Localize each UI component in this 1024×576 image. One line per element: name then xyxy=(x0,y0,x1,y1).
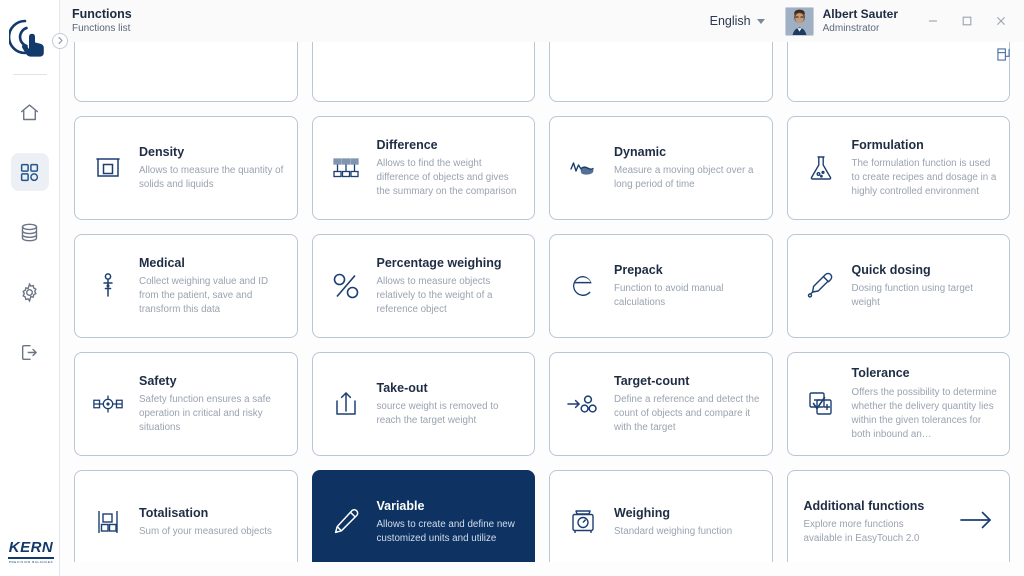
functions-content: Density Allows to measure the quantity o… xyxy=(60,42,1024,576)
card-title: Target-count xyxy=(614,373,760,389)
arrow-right-icon xyxy=(959,509,993,536)
take-out-icon xyxy=(325,389,367,419)
dynamic-icon xyxy=(562,153,604,183)
totalisation-icon xyxy=(87,507,129,537)
card-title: Safety xyxy=(139,373,285,389)
sidebar-nav xyxy=(0,93,59,371)
pencil-icon xyxy=(325,507,367,537)
difference-icon xyxy=(325,153,367,183)
function-card-variable[interactable]: Variable Allows to create and define new… xyxy=(312,470,536,574)
card-body: Dynamic Measure a moving object over a l… xyxy=(614,144,760,193)
scale-icon xyxy=(562,507,604,537)
card-body: Percentage weighing Allows to measure ob… xyxy=(377,255,523,318)
medical-icon xyxy=(87,271,129,301)
card-desc: Standard weighing function xyxy=(614,525,760,539)
kern-logo: KERN PRECISION BALANCES xyxy=(8,540,54,564)
card-desc: Allows to find the weight difference of … xyxy=(377,157,523,200)
e-mark-icon xyxy=(562,270,604,302)
card-body: Prepack Function to avoid manual calcula… xyxy=(614,262,760,311)
brand-logo xyxy=(0,0,60,74)
page-title-block: Functions Functions list xyxy=(72,7,132,36)
app-window: KERN PRECISION BALANCES Functions Functi… xyxy=(0,0,1024,576)
avatar xyxy=(785,7,814,36)
language-selector[interactable]: English xyxy=(710,14,765,28)
user-menu[interactable]: Albert Sauter Adminstrator xyxy=(785,7,898,36)
function-card-target-count[interactable]: Target-count Define a reference and dete… xyxy=(549,352,773,456)
kern-wordmark: KERN xyxy=(9,540,54,555)
minimize-button[interactable] xyxy=(916,6,950,36)
function-card-additional-functions[interactable]: Additional functions Explore more functi… xyxy=(787,470,1011,574)
expand-icon xyxy=(997,48,1010,65)
maximize-button[interactable] xyxy=(950,6,984,36)
tolerance-icon xyxy=(800,389,842,419)
maximize-icon xyxy=(961,15,973,27)
card-body: Difference Allows to find the weight dif… xyxy=(377,137,523,200)
titlebar: Functions Functions list English xyxy=(60,0,1024,42)
function-card-dynamic[interactable]: Dynamic Measure a moving object over a l… xyxy=(549,116,773,220)
sidebar-item-functions[interactable] xyxy=(11,153,49,191)
card-desc: Measure a moving object over a long peri… xyxy=(614,164,760,192)
function-card-density[interactable]: Density Allows to measure the quantity o… xyxy=(74,116,298,220)
card-title: Take-out xyxy=(377,380,523,396)
card-body: Medical Collect weighing value and ID fr… xyxy=(139,255,285,318)
card-title: Variable xyxy=(377,498,523,514)
content-bottom-spacer xyxy=(60,562,1024,576)
card-desc: Collect weighing value and ID from the p… xyxy=(139,275,285,318)
kern-tagline: PRECISION BALANCES xyxy=(9,560,53,564)
crosshair-icon xyxy=(87,389,129,419)
card-body: Variable Allows to create and define new… xyxy=(377,498,523,547)
language-label: English xyxy=(710,14,751,28)
function-card-medical[interactable]: Medical Collect weighing value and ID fr… xyxy=(74,234,298,338)
card-title: Totalisation xyxy=(139,505,285,521)
card-body: Formulation The formulation function is … xyxy=(852,137,998,200)
card-body: Totalisation Sum of your measured object… xyxy=(139,505,285,539)
gear-icon xyxy=(19,282,40,303)
sidebar-item-database[interactable] xyxy=(11,213,49,251)
expand-panel-button[interactable] xyxy=(997,48,1010,66)
card-body: Safety Safety function ensures a safe op… xyxy=(139,373,285,436)
card-title: Quick dosing xyxy=(852,262,998,278)
sidebar-item-logout[interactable] xyxy=(11,333,49,371)
card-desc: Function to avoid manual calculations xyxy=(614,282,760,310)
function-card-totalisation[interactable]: Totalisation Sum of your measured object… xyxy=(74,470,298,574)
percent-icon xyxy=(325,270,367,302)
card-title: Weighing xyxy=(614,505,760,521)
card-body: Target-count Define a reference and dete… xyxy=(614,373,760,436)
flask-icon xyxy=(800,153,842,183)
card-body: Take-out source weight is removed to rea… xyxy=(377,380,523,429)
card-desc: Sum of your measured objects xyxy=(139,525,285,539)
card-body: Density Allows to measure the quantity o… xyxy=(139,144,285,193)
grid-apps-icon xyxy=(19,162,40,183)
database-icon xyxy=(19,222,40,243)
card-title: Density xyxy=(139,144,285,160)
card-title: Medical xyxy=(139,255,285,271)
sidebar-collapse-button[interactable] xyxy=(52,33,68,49)
user-name: Albert Sauter xyxy=(823,7,898,22)
home-icon xyxy=(19,102,40,123)
kern-rule xyxy=(8,557,54,559)
card-title: Prepack xyxy=(614,262,760,278)
card-title: Additional functions xyxy=(804,498,942,514)
chevron-down-icon xyxy=(757,19,765,24)
card-title: Difference xyxy=(377,137,523,153)
card-desc: Safety function ensures a safe operation… xyxy=(139,393,285,436)
window-controls xyxy=(916,6,1018,36)
function-card-partial[interactable] xyxy=(74,42,298,102)
function-card-take-out[interactable]: Take-out source weight is removed to rea… xyxy=(312,352,536,456)
function-card-quick-dosing[interactable]: Quick dosing Dosing function using targe… xyxy=(787,234,1011,338)
sidebar-item-settings[interactable] xyxy=(11,273,49,311)
card-title: Percentage weighing xyxy=(377,255,523,271)
function-card-prepack[interactable]: Prepack Function to avoid manual calcula… xyxy=(549,234,773,338)
user-text: Albert Sauter Adminstrator xyxy=(823,7,898,35)
sidebar-divider xyxy=(13,74,47,75)
card-desc: Allows to create and define new customiz… xyxy=(377,518,523,546)
chevron-right-icon xyxy=(57,36,64,47)
target-count-icon xyxy=(562,390,604,418)
function-card-percentage-weighing[interactable]: Percentage weighing Allows to measure ob… xyxy=(312,234,536,338)
user-role: Adminstrator xyxy=(823,22,898,35)
sidebar-item-home[interactable] xyxy=(11,93,49,131)
card-body: Weighing Standard weighing function xyxy=(614,505,760,539)
card-title: Tolerance xyxy=(852,365,998,381)
pipette-icon xyxy=(800,271,842,301)
card-desc: source weight is removed to reach the ta… xyxy=(377,400,523,428)
function-card-partial[interactable] xyxy=(549,42,773,102)
card-desc: Dosing function using target weight xyxy=(852,282,998,310)
sidebar: KERN PRECISION BALANCES xyxy=(0,0,60,576)
function-card-partial[interactable] xyxy=(312,42,536,102)
function-card-difference[interactable]: Difference Allows to find the weight dif… xyxy=(312,116,536,220)
density-icon xyxy=(87,153,129,183)
logout-icon xyxy=(19,342,40,363)
card-desc: Explore more functions available in Easy… xyxy=(804,518,942,546)
function-card-tolerance[interactable]: Tolerance Offers the possibility to dete… xyxy=(787,352,1011,456)
card-title: Formulation xyxy=(852,137,998,153)
functions-grid: Density Allows to measure the quantity o… xyxy=(74,42,1010,576)
minimize-icon xyxy=(927,15,939,27)
close-icon xyxy=(995,15,1007,27)
card-desc: The formulation function is used to crea… xyxy=(852,157,998,200)
card-body: Additional functions Explore more functi… xyxy=(804,498,950,547)
main-region: Functions Functions list English xyxy=(60,0,1024,576)
function-card-formulation[interactable]: Formulation The formulation function is … xyxy=(787,116,1011,220)
function-card-safety[interactable]: Safety Safety function ensures a safe op… xyxy=(74,352,298,456)
card-desc: Allows to measure the quantity of solids… xyxy=(139,164,285,192)
card-body: Tolerance Offers the possibility to dete… xyxy=(852,365,998,442)
card-desc: Allows to measure objects relatively to … xyxy=(377,275,523,318)
function-card-weighing[interactable]: Weighing Standard weighing function xyxy=(549,470,773,574)
page-title: Functions xyxy=(72,7,132,23)
page-subtitle: Functions list xyxy=(72,22,132,35)
close-button[interactable] xyxy=(984,6,1018,36)
card-desc: Offers the possibility to determine whet… xyxy=(852,386,998,443)
card-body: Quick dosing Dosing function using targe… xyxy=(852,262,998,311)
card-desc: Define a reference and detect the count … xyxy=(614,393,760,436)
function-card-partial[interactable] xyxy=(787,42,1011,102)
card-title: Dynamic xyxy=(614,144,760,160)
